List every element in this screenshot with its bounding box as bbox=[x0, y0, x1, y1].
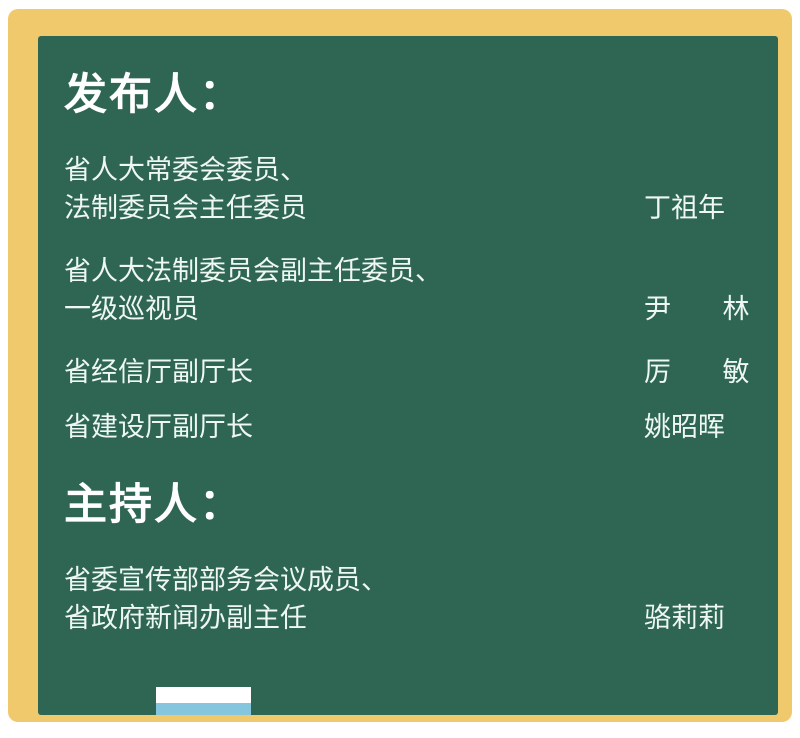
host-entry: 省委宣传部部务会议成员、 省政府新闻办副主任 骆莉莉 bbox=[64, 561, 758, 637]
speaker-title-line: 省经信厅副厅长 bbox=[64, 353, 253, 391]
host-title-line: 省政府新闻办副主任 bbox=[64, 599, 388, 637]
speaker-title-line: 一级巡视员 bbox=[64, 290, 442, 328]
chalkboard-panel: 发布人： 省人大常委会委员、 法制委员会主任委员 丁祖年 省人大法制委员会副主任… bbox=[38, 36, 778, 715]
speakers-section-heading: 发布人： bbox=[64, 74, 244, 117]
decorative-footer-mark bbox=[156, 687, 251, 715]
host-name: 骆莉莉 bbox=[644, 599, 764, 637]
speaker-title: 省经信厅副厅长 bbox=[64, 353, 253, 391]
speaker-title: 省人大法制委员会副主任委员、 一级巡视员 bbox=[64, 252, 442, 328]
speaker-entry: 省经信厅副厅长 厉 敏 bbox=[64, 353, 758, 391]
speaker-title: 省建设厅副厅长 bbox=[64, 408, 253, 446]
footer-mark-white-band bbox=[156, 687, 251, 703]
speaker-title-line: 省人大法制委员会副主任委员、 bbox=[64, 252, 442, 290]
speaker-title: 省人大常委会委员、 法制委员会主任委员 bbox=[64, 151, 307, 227]
speaker-entry: 省人大常委会委员、 法制委员会主任委员 丁祖年 bbox=[64, 151, 758, 227]
gold-frame-border: 发布人： 省人大常委会委员、 法制委员会主任委员 丁祖年 省人大法制委员会副主任… bbox=[8, 9, 792, 722]
speaker-title-line: 省人大常委会委员、 bbox=[64, 151, 307, 189]
speaker-title-line: 省建设厅副厅长 bbox=[64, 408, 253, 446]
speaker-entry: 省人大法制委员会副主任委员、 一级巡视员 尹 林 bbox=[64, 252, 758, 328]
host-title-line: 省委宣传部部务会议成员、 bbox=[64, 561, 388, 599]
speaker-name: 丁祖年 bbox=[644, 189, 764, 227]
host-title: 省委宣传部部务会议成员、 省政府新闻办副主任 bbox=[64, 561, 388, 637]
host-section-heading: 主持人： bbox=[64, 484, 244, 527]
speaker-name: 尹 林 bbox=[644, 290, 764, 328]
speaker-entry: 省建设厅副厅长 姚昭晖 bbox=[64, 408, 758, 446]
speaker-name: 厉 敏 bbox=[644, 353, 764, 391]
footer-mark-blue-band bbox=[156, 703, 251, 715]
speaker-name: 姚昭晖 bbox=[644, 408, 764, 446]
speaker-title-line: 法制委员会主任委员 bbox=[64, 189, 307, 227]
press-conference-poster: 发布人： 省人大常委会委员、 法制委员会主任委员 丁祖年 省人大法制委员会副主任… bbox=[0, 0, 800, 738]
